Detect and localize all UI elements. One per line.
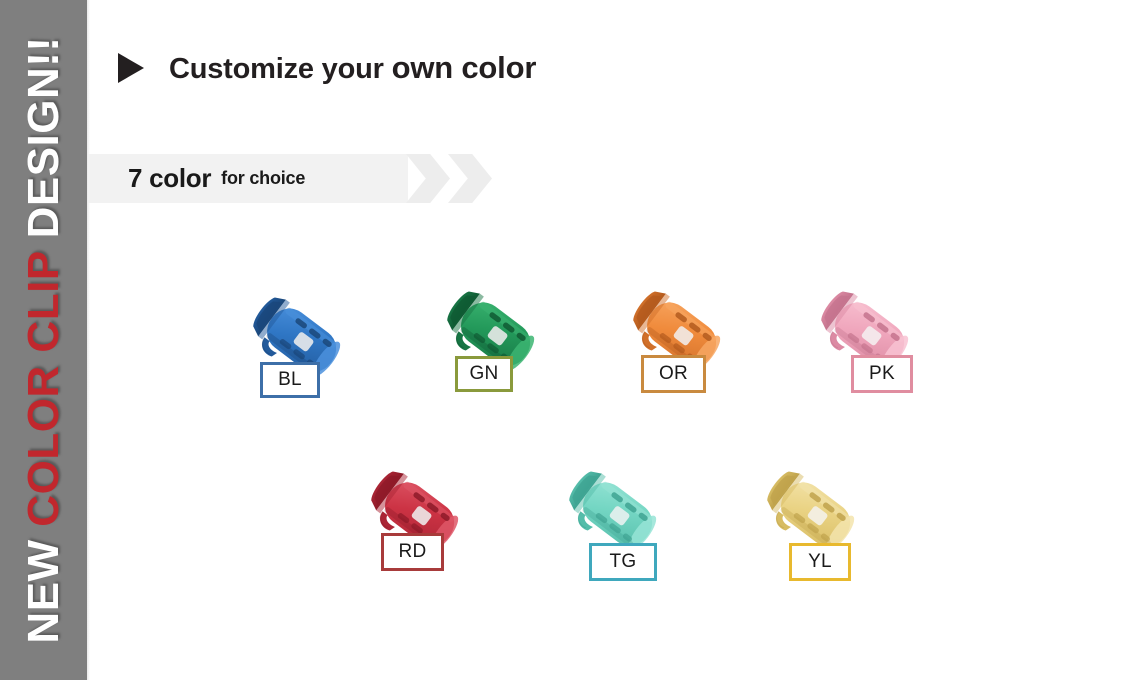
clip-label-tg[interactable]: TG [589,543,657,581]
clip-label-gn[interactable]: GN [455,356,513,392]
clip-code-text: YL [808,551,832,573]
clip-label-pk[interactable]: PK [851,355,913,393]
slide-root: NEW COLOR CLIP DESIGN!! Customize your o… [0,0,1134,680]
clip-item-rd[interactable] [350,452,540,622]
clip-label-rd[interactable]: RD [381,533,444,571]
clip-code-text: GN [469,363,498,385]
clip-code-text: RD [398,541,426,563]
clip-item-tg[interactable] [548,452,738,622]
clip-label-bl[interactable]: BL [260,362,320,398]
clip-code-text: BL [278,369,302,391]
clip-label-yl[interactable]: YL [789,543,851,581]
clip-code-text: PK [869,363,895,385]
clip-code-text: OR [659,363,688,385]
clip-item-yl[interactable] [746,452,936,622]
clip-label-or[interactable]: OR [641,355,706,393]
color-clip-gallery: BL [0,0,1134,680]
clip-code-text: TG [610,551,637,573]
